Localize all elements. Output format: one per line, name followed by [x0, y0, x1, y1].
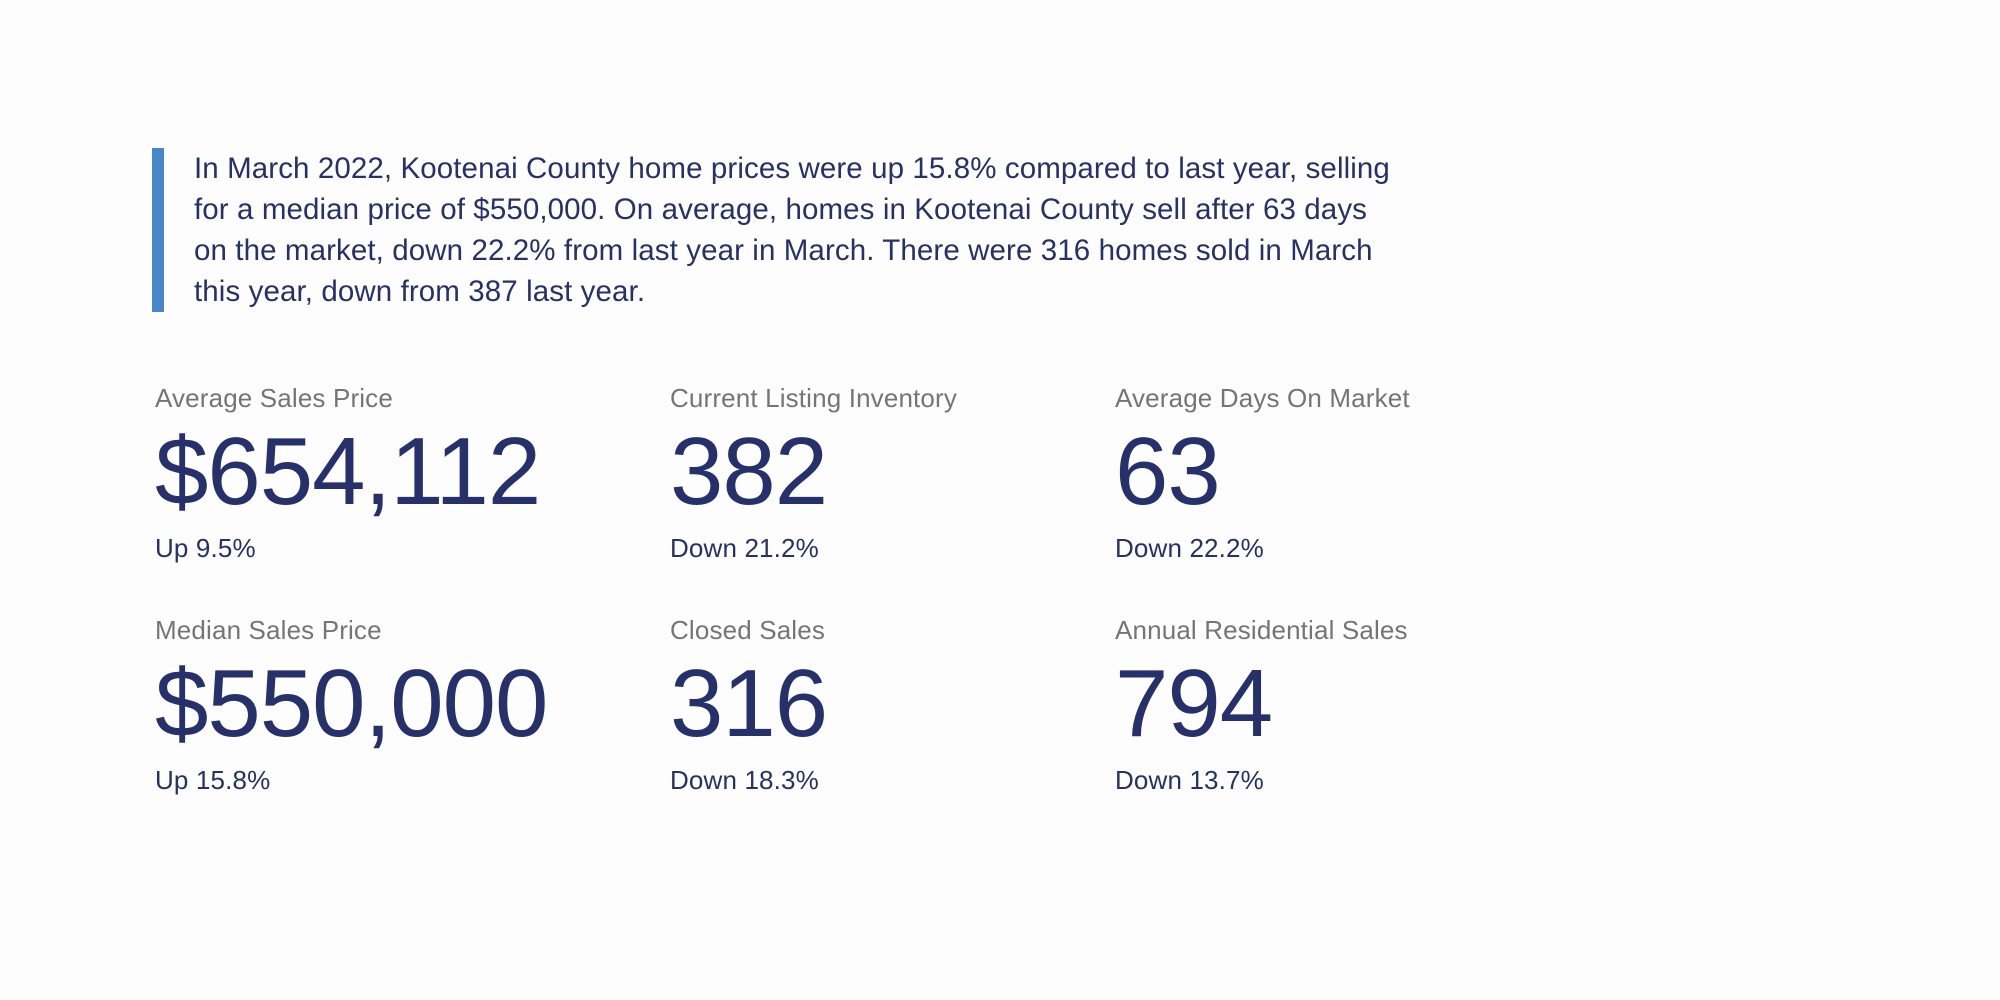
stat-label: Current Listing Inventory — [670, 383, 1115, 413]
stat-change: Up 9.5% — [155, 533, 670, 563]
stat-value: $550,000 — [155, 651, 670, 757]
market-stats-page: In March 2022, Kootenai County home pric… — [0, 0, 2000, 1000]
stat-card-closed-sales: Closed Sales 316 Down 18.3% — [670, 615, 1115, 795]
stat-change: Down 22.2% — [1115, 533, 1655, 563]
stat-label: Closed Sales — [670, 615, 1115, 645]
stat-value: 794 — [1115, 651, 1655, 757]
accent-bar — [152, 148, 164, 312]
stat-label: Median Sales Price — [155, 615, 670, 645]
stat-label: Annual Residential Sales — [1115, 615, 1655, 645]
stat-change: Down 18.3% — [670, 765, 1115, 795]
stat-card-annual-residential-sales: Annual Residential Sales 794 Down 13.7% — [1115, 615, 1655, 795]
stat-label: Average Days On Market — [1115, 383, 1655, 413]
stat-value: 63 — [1115, 419, 1655, 525]
market-summary-text: In March 2022, Kootenai County home pric… — [194, 148, 1394, 312]
stat-change: Down 13.7% — [1115, 765, 1655, 795]
stat-change: Down 21.2% — [670, 533, 1115, 563]
stat-card-median-sales-price: Median Sales Price $550,000 Up 15.8% — [155, 615, 670, 795]
stat-change: Up 15.8% — [155, 765, 670, 795]
stats-grid: Average Sales Price $654,112 Up 9.5% Cur… — [155, 383, 1655, 795]
stat-card-current-listing-inventory: Current Listing Inventory 382 Down 21.2% — [670, 383, 1115, 563]
stat-value: 382 — [670, 419, 1115, 525]
stat-value: 316 — [670, 651, 1115, 757]
stat-card-average-days-on-market: Average Days On Market 63 Down 22.2% — [1115, 383, 1655, 563]
stat-label: Average Sales Price — [155, 383, 670, 413]
stat-value: $654,112 — [155, 419, 670, 525]
market-summary-blockquote: In March 2022, Kootenai County home pric… — [152, 148, 1412, 312]
stat-card-average-sales-price: Average Sales Price $654,112 Up 9.5% — [155, 383, 670, 563]
